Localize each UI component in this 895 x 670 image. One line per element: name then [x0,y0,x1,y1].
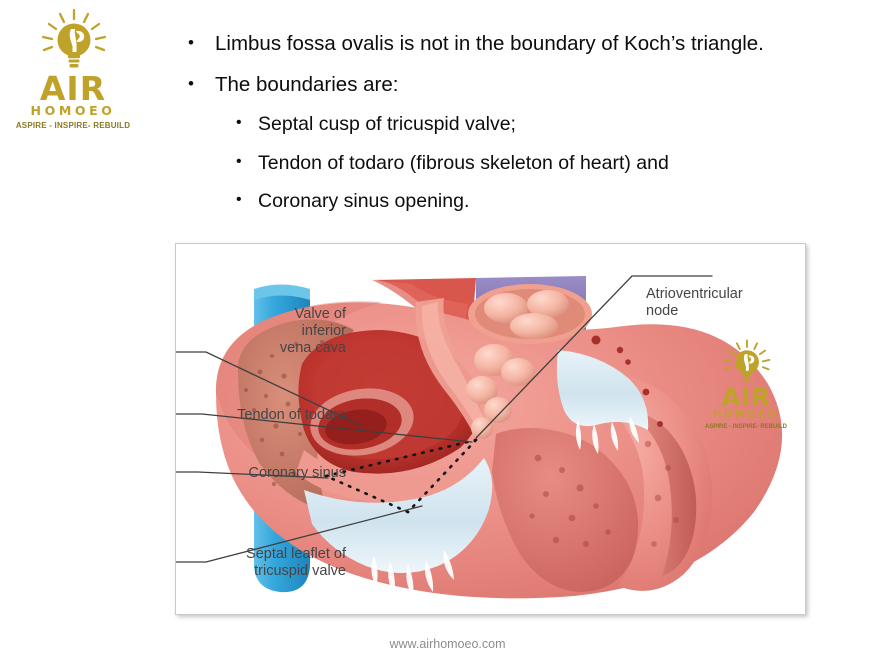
list-item-label: Limbus fossa ovalis is not in the bounda… [215,34,820,55]
label-valve-inferior-vena-cava: Valve of inferior vena cava [186,306,346,357]
list-item-label: Coronary sinus opening. [258,192,820,212]
bullet-marker: • [188,75,215,92]
list-item-label: Tendon of todaro (fibrous skeleton of he… [258,154,820,174]
label-septal-leaflet-tricuspid-valve: Septal leaflet of tricuspid valve [186,546,346,580]
bullet-marker: • [236,192,258,208]
label-atrioventricular-node: Atrioventricular node [646,286,796,320]
heart-diagram-figure: AIR HOMOEO ASPIRE - INSPIRE- REBUILD Val… [175,243,806,615]
logo-wordmark: AIR [699,385,793,410]
figure-watermark-logo: AIR HOMOEO ASPIRE - INSPIRE- REBUILD [699,339,793,443]
list-item: • Septal cusp of tricuspid valve; [180,115,820,135]
list-item: • The boundaries are: [180,75,820,96]
logo-tagline: ASPIRE - INSPIRE- REBUILD [699,424,793,430]
bullet-marker: • [236,154,258,170]
label-tendon-of-todaro: Tendon of todaro [176,407,346,424]
logo-wordmark: AIR [14,72,132,105]
logo-subwordmark: HOMOEO [14,105,132,118]
footer-website-url: www.airhomoeo.com [0,637,895,651]
list-item: • Limbus fossa ovalis is not in the boun… [180,34,820,55]
list-item: • Tendon of todaro (fibrous skeleton of … [180,154,820,174]
slide-body-text: • Limbus fossa ovalis is not in the boun… [180,34,820,231]
logo-tagline: ASPIRE - INSPIRE- REBUILD [14,122,132,130]
heart-illustration: AIR HOMOEO ASPIRE - INSPIRE- REBUILD Val… [176,244,805,614]
list-item: • Coronary sinus opening. [180,192,820,212]
list-item-label: The boundaries are: [215,75,820,96]
label-coronary-sinus: Coronary sinus [186,465,346,482]
logo-subwordmark: HOMOEO [699,410,793,420]
bullet-marker: • [188,34,215,51]
list-item-label: Septal cusp of tricuspid valve; [258,115,820,135]
brand-logo: AIR HOMOEO ASPIRE - INSPIRE- REBUILD [14,8,132,136]
bullet-marker: • [236,115,258,131]
